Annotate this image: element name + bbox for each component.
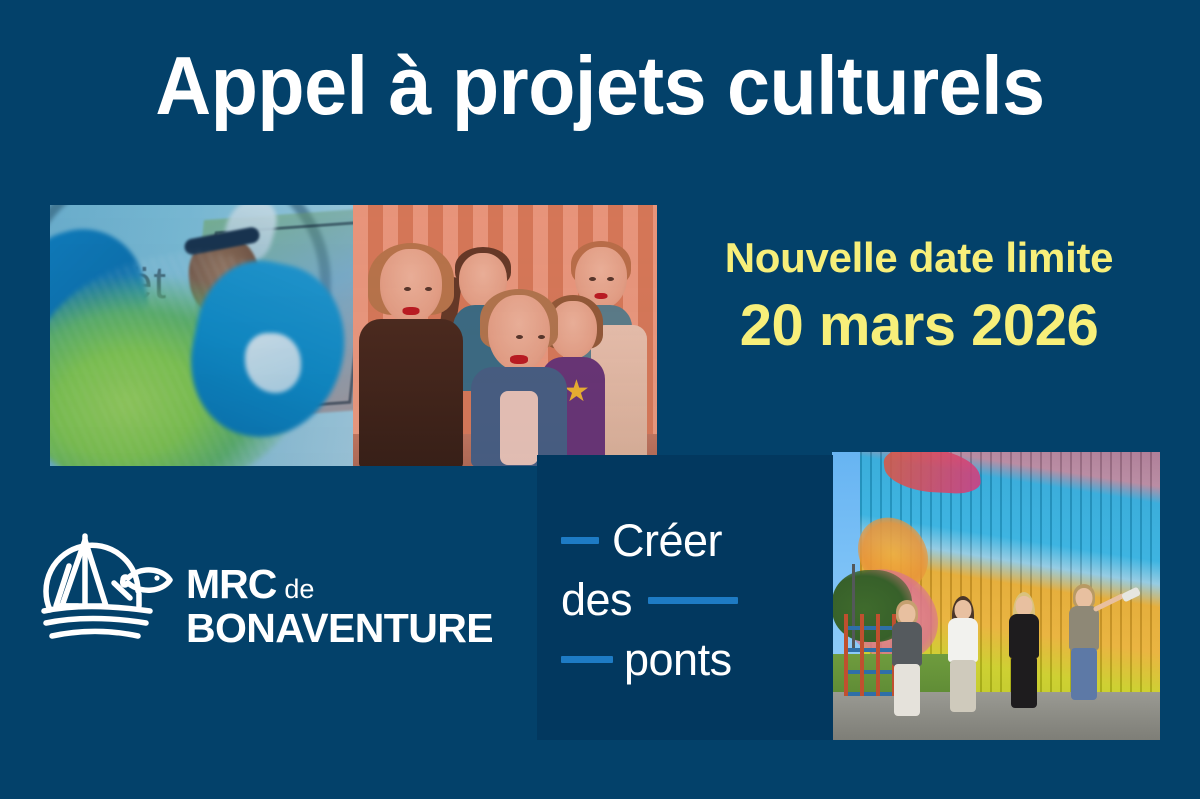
photo-color-tint xyxy=(50,205,353,466)
head xyxy=(899,604,916,624)
mrc-wordmark: MRC de BONAVENTURE xyxy=(186,564,493,649)
shirt xyxy=(1009,614,1039,658)
poster-canvas: Appel à projets culturels frët xyxy=(0,0,1200,799)
painter-4 xyxy=(1066,588,1102,722)
shirt xyxy=(1069,606,1099,650)
des-word: des xyxy=(561,570,632,629)
shirt xyxy=(948,618,978,662)
mural-photo xyxy=(832,452,1160,740)
mrc-line-1: MRC de xyxy=(186,564,493,605)
creer-word: Créer xyxy=(612,511,722,570)
dance-class-photo: ★ xyxy=(353,205,657,466)
deadline-block: Nouvelle date limite 20 mars 2026 xyxy=(663,236,1175,357)
head xyxy=(1016,596,1033,616)
photo-color-tint xyxy=(353,205,657,466)
head xyxy=(1076,588,1093,608)
pants xyxy=(1011,656,1037,708)
shirt xyxy=(892,622,922,666)
mrc-bonaventure-logo: MRC de BONAVENTURE xyxy=(38,522,518,672)
mrc-acronym: MRC xyxy=(186,564,276,605)
sailboat-fish-waves-emblem xyxy=(38,528,178,658)
deadline-label: Nouvelle date limite xyxy=(663,236,1175,280)
ponts-word: ponts xyxy=(624,630,732,689)
dancer-photo: frët xyxy=(50,205,353,466)
painter-3 xyxy=(1006,596,1042,722)
dash-icon xyxy=(561,656,613,663)
concrete-base xyxy=(832,692,1160,740)
pants xyxy=(950,660,976,712)
deadline-date: 20 mars 2026 xyxy=(663,296,1175,357)
dash-icon xyxy=(561,537,599,544)
page-title: Appel à projets culturels xyxy=(42,44,1158,127)
dash-icon xyxy=(648,597,738,604)
ponts-row: ponts xyxy=(561,630,811,689)
pants xyxy=(894,664,920,716)
mrc-de-word: de xyxy=(284,576,314,603)
creer-des-ponts-wordmark: Créer des ponts xyxy=(561,511,811,689)
pants xyxy=(1071,648,1097,700)
des-row: des xyxy=(561,570,811,629)
creer-des-ponts-logo-panel: Créer des ponts xyxy=(537,455,833,740)
painter-2 xyxy=(946,600,980,722)
mrc-bonaventure-name: BONAVENTURE xyxy=(186,608,493,649)
head xyxy=(955,600,972,620)
painter-1 xyxy=(890,604,924,722)
creer-row: Créer xyxy=(561,511,811,570)
